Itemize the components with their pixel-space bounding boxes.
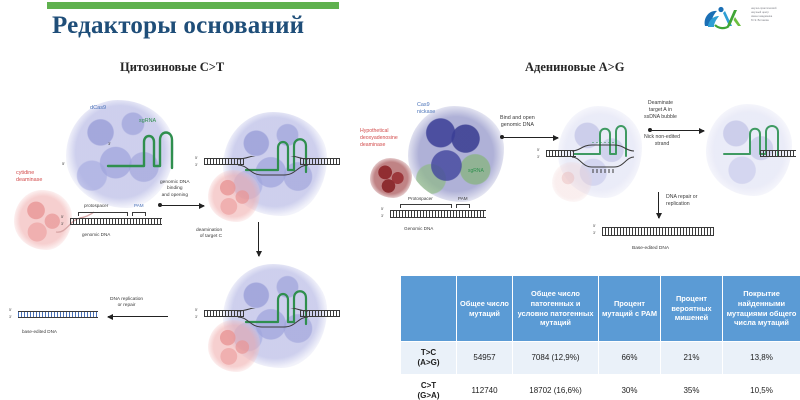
- cell-total-mutations-tc: 54957: [457, 342, 513, 375]
- deoxyadenosine-deaminase-label: Hypothetical deoxyadenosine deaminase: [360, 128, 398, 148]
- arrow-label-deaminate-target: Deaminate target A in ssDNA bubble: [644, 100, 677, 121]
- section-heading-cytosine: Цитозиновые C>T: [120, 60, 224, 75]
- deoxyadenosine-deaminase-line2: deoxyadenosine: [360, 135, 398, 141]
- cell-pam-percent-tc: 66%: [599, 342, 661, 375]
- arrow-deaminate-nick: [650, 130, 704, 131]
- arrow-label-replication-repair: DNA replication or repair: [110, 297, 143, 310]
- base-edited-bp-right: [602, 228, 714, 235]
- arrow-label-replication-line2: or repair: [118, 303, 136, 308]
- cas9-nickase-label-line2: nickase: [417, 109, 435, 115]
- table-header-row: Общее число мутаций Общее число патогенн…: [401, 276, 800, 342]
- base-edited-dna-duplex: 5' 3': [18, 308, 98, 324]
- dna-3prime-right: 3': [381, 214, 384, 218]
- dcas9-label: dCas9: [90, 105, 106, 112]
- arrow-label-nick-strand: Nick non-edited strand: [644, 134, 680, 148]
- arrow-label-bind-open: Bind and open genomic DNA: [500, 115, 535, 130]
- row-label-tc: T>C (A>G): [401, 342, 457, 375]
- genomic-dna-label: genomic DNA: [82, 232, 110, 238]
- arrow-label-deamination-line2: of target C: [200, 234, 222, 239]
- rloop-bubble-duplex: 5' 3': [204, 156, 340, 180]
- table-header-pathogenic: Общее число патогенных и условно патоген…: [513, 276, 599, 342]
- table-row: T>C (A>G) 54957 7084 (12,9%) 66% 21% 13,…: [401, 342, 800, 375]
- arrow-label-replication-line1: DNA replication: [110, 297, 143, 302]
- rloop-3prime: 3': [195, 163, 198, 167]
- arrow-replication-repair: [108, 316, 168, 317]
- cell-probable-targets-ct: 35%: [661, 375, 723, 400]
- pam-label-right: PAM: [458, 196, 468, 202]
- arrow-label-bind-open-line1: Bind and open: [500, 115, 535, 121]
- figure-adenine-base-editor: Cas9 nickase Hypothetical deoxyadenosine…: [360, 92, 797, 260]
- arrow-label-deaminate-line1: Deaminate: [648, 100, 673, 106]
- arrow-deamination: [258, 222, 259, 256]
- base-edited-5prime-right: 5': [593, 224, 596, 228]
- protospacer-label: protospacer: [84, 203, 108, 209]
- edited-5prime: 5': [195, 308, 198, 312]
- genomic-dna-duplex-step1: 5' 3': [70, 212, 162, 228]
- arrow-label-deaminate-line3: ssDNA bubble: [644, 114, 677, 120]
- arrow-label-repair-replication: DNA repair or replication: [666, 194, 697, 208]
- arrow-label-bind-open-line2: genomic DNA: [501, 122, 534, 128]
- edited-3prime: 3': [195, 315, 198, 319]
- figure-cytosine-base-editor: dCas9 sgRNA 5' 3' cytidine deaminase 5' …: [8, 92, 356, 392]
- arrow-label-repair-line1: DNA repair or: [666, 194, 697, 200]
- duplex-5prime-left: 5': [61, 215, 64, 219]
- pam-label: PAM: [134, 203, 144, 209]
- protospacer-brace: [78, 212, 128, 216]
- rloop-open-bubble: [238, 156, 308, 180]
- cas9-nickase-structure: [408, 106, 504, 202]
- sgrna-label: sgRNA: [139, 118, 156, 125]
- arrow-label-binding-line3: and opening: [162, 193, 188, 198]
- table-header-coverage: Покрытие найденными мутациями общего чис…: [723, 276, 800, 342]
- dna-bottom-rail: [70, 224, 162, 225]
- base-edited-dna-label: base-edited DNA: [22, 329, 57, 335]
- base-edited-3prime-right: 3': [593, 231, 596, 235]
- arrow-label-deamination-line1: deamination: [196, 228, 222, 233]
- table-header-probable-targets: Процент вероятных мишеней: [661, 276, 723, 342]
- title-accent-bar: [47, 2, 339, 9]
- page-title: Редакторы оснований: [52, 12, 304, 40]
- rloop-5prime: 5': [195, 156, 198, 160]
- arrow-label-deaminate-line2: target A in: [649, 107, 672, 113]
- cytidine-deaminase-label-line1: cytidine: [16, 170, 34, 176]
- mutation-statistics-table: Общее число мутаций Общее число патогенн…: [400, 275, 800, 400]
- cell-pathogenic-ct: 18702 (16,6%): [513, 375, 599, 400]
- base-edited-dna-label-right: Base-edited DNA: [632, 246, 669, 252]
- protospacer-brace-right: [400, 204, 452, 208]
- row-label-ct: C>T (G>A): [401, 375, 457, 400]
- dna-5prime-right: 5': [381, 207, 384, 211]
- table-header-pam-percent: Процент мутаций с PAM: [599, 276, 661, 342]
- edited-bubble-duplex: 5' 3': [204, 308, 340, 332]
- arrow-label-deamination: deamination of target C: [196, 228, 222, 241]
- arrow-repair-replication: [658, 192, 659, 218]
- deoxyadenosine-deaminase-line3: deaminase: [360, 142, 385, 148]
- open-bubble-duplex-right: 5' 3': [546, 148, 646, 170]
- open-5prime-right: 5': [537, 148, 540, 152]
- cell-total-mutations-ct: 112740: [457, 375, 513, 400]
- section-heading-adenine: Адениновые A>G: [525, 60, 625, 75]
- slide-root: Редакторы оснований научно-практический …: [0, 0, 800, 400]
- ssdna-bubble-right: [572, 142, 634, 176]
- arrow-label-nick-line2: strand: [655, 141, 669, 147]
- base-edited-5prime: 5': [9, 308, 12, 312]
- pam-brace: [132, 212, 146, 216]
- base-edited-3prime: 3': [9, 315, 12, 319]
- cas9-nickase-label-line1: Cas9: [417, 102, 430, 108]
- logo-text-block: научно-практический научный центр имени …: [751, 7, 797, 23]
- edited-open-bubble: [238, 308, 308, 332]
- cell-pam-percent-ct: 30%: [599, 375, 661, 400]
- table-row: C>T (G>A) 112740 18702 (16,6%) 30% 35% 1…: [401, 375, 800, 400]
- nicked-mid-rail-right: [760, 156, 796, 157]
- protospacer-label-right: Protospacer: [408, 196, 433, 202]
- arrow-binding-opening: [160, 205, 204, 206]
- cytidine-deaminase-label: cytidine deaminase: [16, 170, 42, 184]
- logo-mark-icon: [699, 5, 747, 33]
- deoxyadenosine-deaminase-line1: Hypothetical: [360, 128, 389, 134]
- duplex-3prime-left: 3': [61, 222, 64, 226]
- arrow-label-binding-line2: binding: [167, 186, 182, 191]
- cas9-nickase-label: Cas9 nickase: [417, 102, 435, 116]
- arrow-label-binding-opening: genomic DNA binding and opening: [160, 180, 190, 199]
- deoxyadenosine-deaminase-structure: [370, 158, 412, 198]
- table-header-corner: [401, 276, 457, 342]
- sgrna-label-right: sgRNA: [468, 168, 484, 174]
- cell-coverage-tc: 13,8%: [723, 342, 800, 375]
- cytidine-deaminase-label-line2: deaminase: [16, 177, 42, 183]
- cell-coverage-ct: 10,5%: [723, 375, 800, 400]
- pam-brace-right: [456, 204, 470, 208]
- arrow-label-nick-line1: Nick non-edited: [644, 134, 680, 140]
- arrow-bind-open: [502, 137, 558, 138]
- genomic-dna-label-right: Genomic DNA: [404, 226, 433, 232]
- sgrna-3prime-tick: 3': [108, 141, 111, 146]
- base-edited-bottom-rail: [18, 317, 98, 318]
- sgrna-5prime-tick: 5': [62, 161, 65, 166]
- arrow-label-repair-line2: replication: [666, 201, 690, 207]
- cell-probable-targets-tc: 21%: [661, 342, 723, 375]
- base-edited-bottom-rail-right: [602, 235, 714, 236]
- table-header-total-mutations: Общее число мутаций: [457, 276, 513, 342]
- genomic-dna-duplex-right: 5' 3': [390, 204, 486, 222]
- arrow-label-binding-line1: genomic DNA: [160, 180, 190, 185]
- logo-text-line-4: Ю.Э. Вотякова: [751, 19, 797, 23]
- cell-pathogenic-tc: 7084 (12,9%): [513, 342, 599, 375]
- open-3prime-right: 3': [537, 155, 540, 159]
- dna-bottom-rail-right: [390, 217, 486, 218]
- base-edited-dna-duplex-right: 5' 3': [602, 224, 714, 242]
- sgrna-strand: [104, 116, 176, 188]
- nicked-duplex-right: 5' 3': [698, 148, 796, 170]
- organization-logo: научно-практический научный центр имени …: [679, 2, 797, 35]
